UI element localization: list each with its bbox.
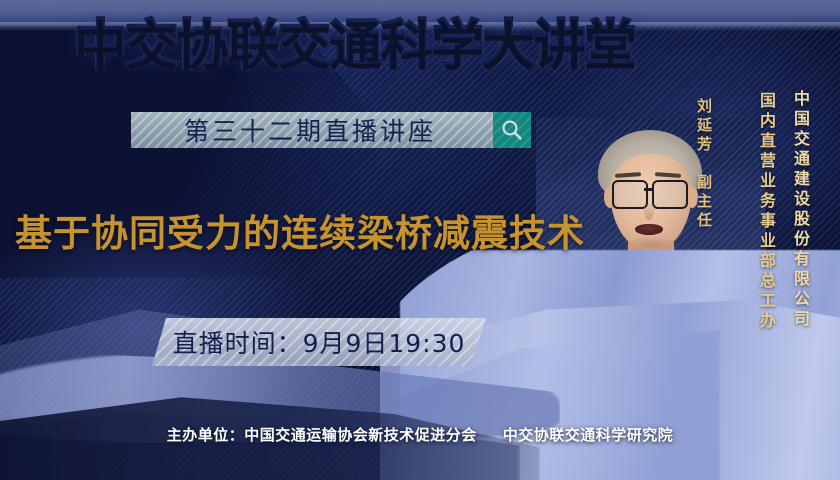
footer-organizers: 主办单位：中国交通运输协会新技术促进分会中交协联交通科学研究院 — [0, 424, 840, 445]
footer-organizer-1: 中国交通运输协会新技术促进分会 — [244, 426, 477, 444]
subtitle-banner-body: 第三十二期直播讲座 — [131, 112, 493, 148]
photo-bottom-fade — [536, 324, 766, 370]
live-lecture-poster: 中交协联交通科学大讲堂 第三十二期直播讲座 基于协同受力的连续梁桥减震技术 直播… — [0, 0, 840, 480]
speaker-mouth — [635, 224, 663, 235]
subtitle-banner-label: 第三十二期直播讲座 — [184, 112, 440, 148]
search-icon-box[interactable] — [493, 112, 531, 148]
footer-organizer-2: 中交协联交通科学研究院 — [503, 426, 674, 444]
lecture-topic: 基于协同受力的连续梁桥减震技术 — [0, 203, 600, 257]
speaker-nose — [644, 202, 654, 220]
live-time-box: 直播时间：9月9日19:30 — [152, 318, 486, 366]
search-icon — [500, 118, 524, 142]
live-time-text: 直播时间：9月9日19:30 — [173, 324, 466, 360]
footer-label: 主办单位： — [167, 426, 245, 444]
glasses-bridge — [644, 188, 652, 191]
chin-shadow — [622, 236, 680, 254]
glasses-lens-left — [612, 180, 648, 209]
speaker-company: 中国交通建设股份有限公司 — [788, 90, 812, 330]
speaker-name-and-title: 刘延芳 副主任 — [694, 98, 715, 231]
glasses-lens-right — [652, 180, 688, 209]
speaker-department: 国内直营业务事业部总工办 — [754, 92, 778, 332]
subtitle-banner: 第三十二期直播讲座 — [131, 112, 531, 148]
main-title: 中交协联交通科学大讲堂 — [0, 20, 710, 72]
